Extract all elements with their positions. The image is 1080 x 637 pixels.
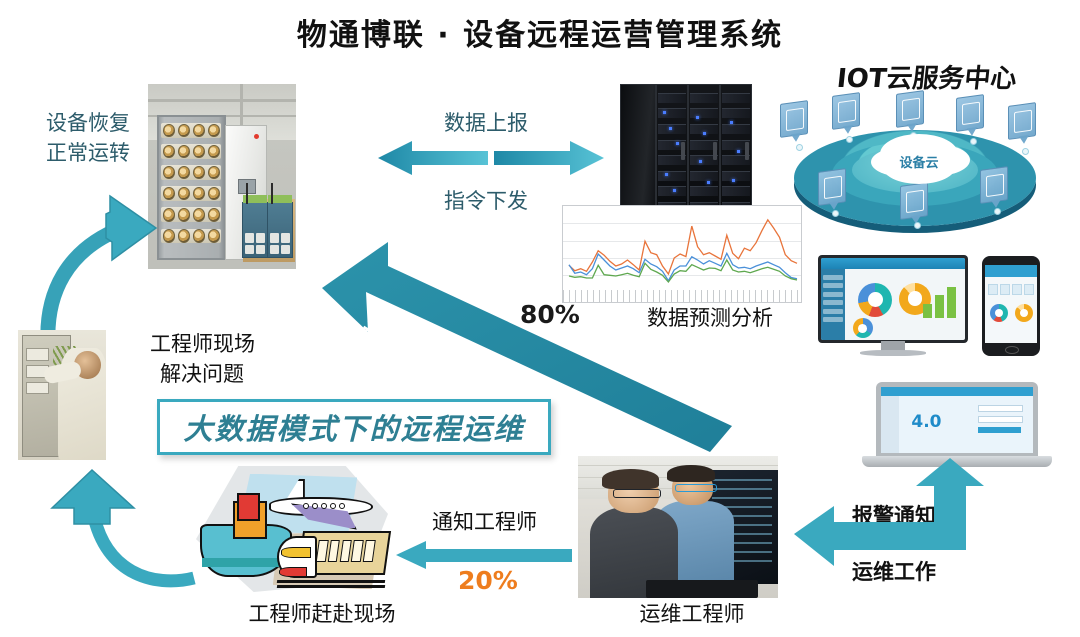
label-data-upload: 数据上报 (444, 110, 528, 137)
calendar-card-icon (832, 92, 860, 130)
device-cloud-label: 设备云 (880, 152, 958, 171)
settings-card-icon (896, 90, 924, 128)
highlight-box: 大数据模式下的远程运维 (157, 399, 551, 455)
label-command-dispatch: 指令下发 (444, 188, 528, 215)
technician-photo (18, 330, 106, 460)
industrial-equipment-photo (148, 84, 296, 269)
arrow-right-dispatch (494, 140, 604, 176)
label-notify-engineer: 通知工程师 (432, 510, 537, 537)
bar-chart (923, 284, 956, 318)
mobile-card-icon (1008, 102, 1036, 140)
device-cloud-bubble: 设备云 (880, 134, 958, 174)
dashboard-phone (982, 256, 1040, 356)
label-ops-work: 运维工作 (852, 560, 936, 587)
label-device-recover-line2: 正常运转 (46, 140, 130, 167)
iot-cloud-platform: 设备云 (770, 92, 1060, 240)
cloud-service-heading: IOT云服务中心 (810, 58, 1044, 95)
label-engineer-onsite-line1: 工程师现场 (150, 332, 255, 359)
arrow-to-technician-curved (44, 466, 204, 596)
laptop-login-screen: 4.0 (862, 382, 1052, 472)
highlight-text: 大数据模式下的远程运维 (183, 406, 524, 448)
caption-engineer-to-site: 工程师赶赴现场 (222, 602, 422, 629)
laptop-headline: 4.0 (911, 412, 941, 432)
chart-card-icon (780, 100, 808, 138)
train-icon (277, 529, 385, 589)
label-engineer-onsite-line2: 解决问题 (160, 362, 244, 389)
page-title: 物通博联 · 设备远程运营管理系统 (0, 10, 1080, 54)
label-device-recover-line1: 设备恢复 (46, 110, 130, 137)
arrow-alarm-ops-elbow (794, 462, 984, 574)
monitor-card-icon (900, 182, 928, 220)
diagram-canvas: 物通博联 · 设备远程运营管理系统 设备恢复 正常运转 (0, 0, 1080, 637)
onsite-percent: 20% (458, 566, 518, 595)
server-rack-group (620, 84, 750, 214)
dashboard-monitor (818, 255, 968, 357)
arrow-left-upload (378, 140, 488, 176)
document-card-icon (818, 168, 846, 206)
airplane-icon (269, 481, 369, 524)
operations-engineers-photo (578, 456, 778, 598)
donut-chart-1 (858, 283, 892, 317)
donut-chart-3 (853, 318, 873, 338)
device-card-icon (980, 166, 1008, 204)
caption-ops-engineer: 运维工程师 (612, 602, 772, 629)
message-card-icon (956, 94, 984, 132)
arrow-recover-curved (14, 186, 164, 351)
transport-clipart (196, 466, 388, 592)
